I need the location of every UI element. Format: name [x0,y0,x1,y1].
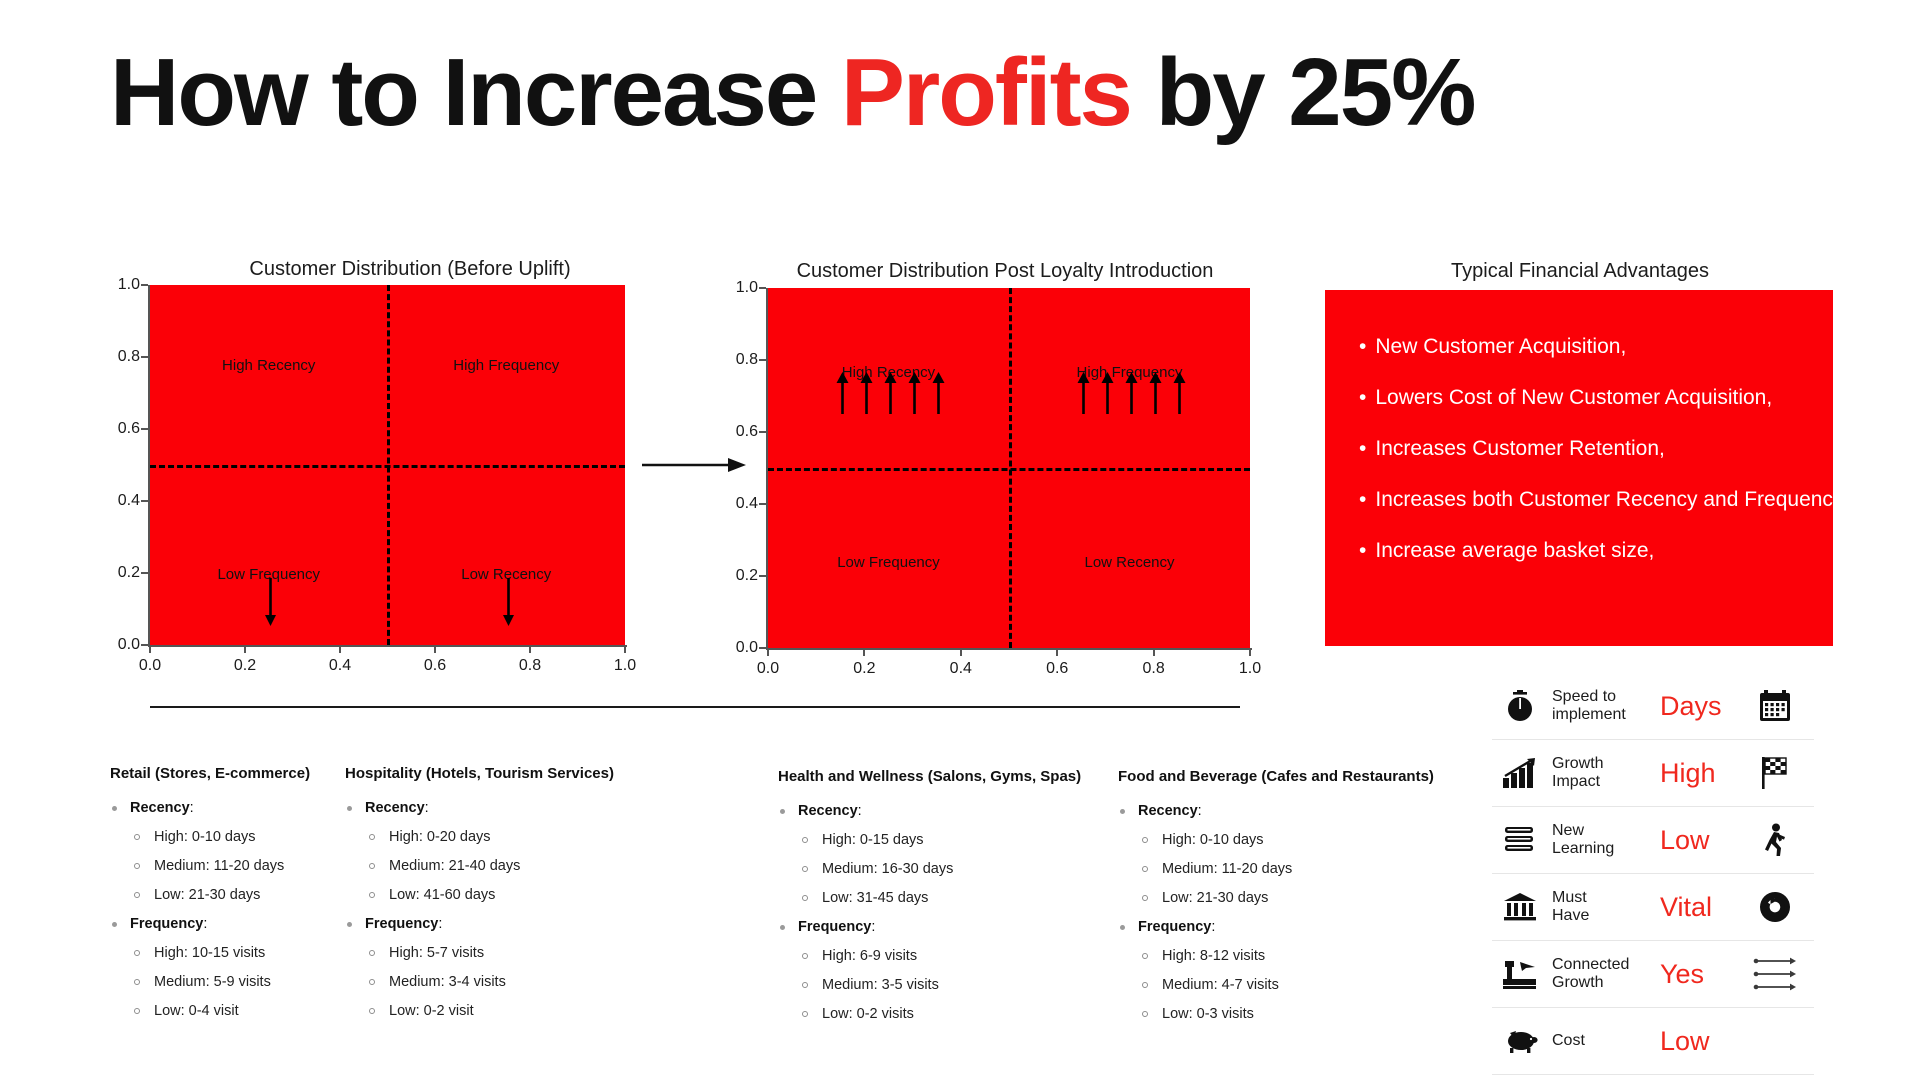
bullet-icon: • [1359,386,1366,409]
bullet-ring-icon [134,834,140,840]
colon: : [871,919,875,935]
y-tick-mark [141,500,148,502]
criteria-value: High [1652,758,1744,789]
criteria-row: CostLow [1492,1008,1814,1075]
metric-group-label: Recency: [345,800,614,816]
metric-range-item: Medium: 5-9 visits [110,974,310,990]
x-tick-label: 0.6 [412,657,458,675]
bullet-icon: • [1359,437,1366,460]
y-tick-mark [759,287,766,289]
bullet-dot-icon [112,922,117,927]
criteria-label-line-1: Speed to [1552,688,1652,706]
segment-column: Retail (Stores, E-commerce)Recency:High:… [110,765,310,1032]
metric-range-item: Medium: 16-30 days [778,861,1081,877]
calendar-icon [1744,690,1806,722]
x-tick-label: 0.0 [745,660,791,678]
y-tick-mark [141,284,148,286]
y-tick-label: 0.0 [712,639,758,657]
metric-range-item: High: 5-7 visits [345,945,614,961]
x-tick-mark [767,649,769,656]
x-tick-label: 0.2 [222,657,268,675]
metric-range-item: High: 0-10 days [1118,832,1434,848]
criteria-row: GrowthImpactHigh [1492,740,1814,807]
stopwatch-icon [1492,689,1548,723]
criteria-value: Vital [1652,892,1744,923]
metric-group-label: Recency: [110,800,310,816]
y-tick-mark [141,644,148,646]
bullet-ring-icon [802,953,808,959]
y-tick-label: 0.2 [94,564,140,582]
metric-range-item: High: 0-15 days [778,832,1081,848]
metric-range-item: Low: 21-30 days [110,887,310,903]
bullet-ring-icon [802,982,808,988]
piggy-bank-icon [1492,1027,1548,1055]
quadrant-label: High Recency [222,357,315,374]
metric-name: Frequency [130,916,203,932]
x-tick-mark [863,649,865,656]
metric-range-text: Low: 21-30 days [1162,890,1268,906]
advantage-item: •Lowers Cost of New Customer Acquisition… [1359,387,1833,408]
x-tick-label: 0.8 [507,657,553,675]
metric-range-item: Medium: 4-7 visits [1118,977,1434,993]
advantage-text: Increase average basket size, [1375,539,1654,562]
criteria-rows: Speed toimplementDaysGrowthImpactHighNew… [1492,673,1814,1075]
segment-heading: Retail (Stores, E-commerce) [110,765,310,782]
metric-range-item: Low: 0-4 visit [110,1003,310,1019]
metric-range-text: High: 8-12 visits [1162,948,1265,964]
y-tick-mark [141,428,148,430]
metric-group-label: Frequency: [345,916,614,932]
metric-group-label: Frequency: [778,919,1081,935]
metric-range-item: Medium: 11-20 days [1118,861,1434,877]
metric-range-text: Medium: 3-5 visits [822,977,939,993]
metric-group-label: Recency: [778,803,1081,819]
y-tick-label: 0.8 [94,348,140,366]
title-part-2: by 25% [1131,39,1475,146]
y-tick-mark [759,503,766,505]
metric-range-item: High: 0-20 days [345,829,614,845]
criteria-label-line-2: implement [1552,706,1652,724]
advantage-text: New Customer Acquisition, [1375,335,1626,358]
bullet-ring-icon [1142,982,1148,988]
y-tick-label: 0.8 [712,351,758,369]
bullet-dot-icon [780,809,785,814]
growth-chart-icon [1492,757,1548,789]
metric-range-item: High: 10-15 visits [110,945,310,961]
metric-range-text: Low: 21-30 days [154,887,260,903]
criteria-row: Speed toimplementDays [1492,673,1814,740]
metric-range-text: Medium: 11-20 days [1162,861,1292,877]
criteria-label-line-1: New [1552,822,1652,840]
y-tick-mark [141,572,148,574]
bullet-dot-icon [347,806,352,811]
bullet-ring-icon [369,979,375,985]
metric-range-item: Medium: 11-20 days [110,858,310,874]
criteria-value: Yes [1652,959,1744,990]
criteria-label-line-1: Connected [1552,956,1652,974]
criteria-row: MustHaveVital [1492,874,1814,941]
criteria-label-line-2: Impact [1552,773,1652,791]
metric-range-item: Low: 0-2 visit [345,1003,614,1019]
metric-range-text: Medium: 5-9 visits [154,974,271,990]
metric-range-text: High: 5-7 visits [389,945,484,961]
bullet-ring-icon [802,866,808,872]
segment-heading: Health and Wellness (Salons, Gyms, Spas) [778,768,1081,785]
metric-range-text: High: 6-9 visits [822,948,917,964]
bullet-ring-icon [802,895,808,901]
y-tick-mark [759,647,766,649]
colon: : [438,916,442,932]
bullet-ring-icon [369,1008,375,1014]
bullet-ring-icon [1142,866,1148,872]
bullet-ring-icon [1142,1011,1148,1017]
metric-range-item: High: 8-12 visits [1118,948,1434,964]
criteria-label-line-2: Growth [1552,974,1652,992]
control-tower-icon [1492,958,1548,990]
bullet-ring-icon [134,950,140,956]
bullet-dot-icon [1120,809,1125,814]
metric-range-text: High: 0-10 days [1162,832,1264,848]
quadrant-label: Low Recency [1084,554,1174,571]
bullet-ring-icon [369,892,375,898]
metric-range-text: Medium: 11-20 days [154,858,284,874]
x-tick-label: 1.0 [602,657,648,675]
chart-1-x-axis [148,645,627,647]
x-tick-label: 0.4 [317,657,363,675]
metric-range-text: Medium: 4-7 visits [1162,977,1279,993]
criteria-label-line-1: Growth [1552,755,1652,773]
metric-range-text: High: 0-20 days [389,829,491,845]
criteria-label-line-2: Learning [1552,840,1652,858]
chart-1-horizontal-divider [150,465,625,468]
x-tick-mark [434,646,436,653]
metric-range-text: Low: 0-4 visit [154,1003,239,1019]
metric-range-item: Low: 0-3 visits [1118,1006,1434,1022]
books-icon [1492,824,1548,856]
advantage-item: •Increases both Customer Recency and Fre… [1359,489,1833,510]
advantage-item: •Increases Customer Retention, [1359,438,1833,459]
chart-2-horizontal-divider [768,468,1250,471]
walking-person-icon [1744,823,1806,857]
up-arrow-icon-group [834,372,947,418]
criteria-label: GrowthImpact [1548,755,1652,791]
metric-range-text: Low: 0-3 visits [1162,1006,1254,1022]
criteria-label: Cost [1548,1032,1652,1050]
x-tick-label: 1.0 [1227,660,1273,678]
metric-range-text: High: 10-15 visits [154,945,265,961]
criteria-label-line-2: Have [1552,907,1652,925]
chart-1-title: Customer Distribution (Before Uplift) [150,258,670,281]
x-tick-label: 0.6 [1034,660,1080,678]
advantages-panel: •New Customer Acquisition,•Lowers Cost o… [1325,290,1833,646]
y-tick-mark [141,356,148,358]
metric-name: Frequency [1138,919,1211,935]
metric-range-text: High: 0-10 days [154,829,256,845]
bullet-ring-icon [134,979,140,985]
metric-range-item: Medium: 3-4 visits [345,974,614,990]
advantage-text: Increases both Customer Recency and Freq… [1375,488,1847,511]
chart-2-title: Customer Distribution Post Loyalty Intro… [740,260,1270,283]
bullet-ring-icon [369,950,375,956]
bank-icon [1492,891,1548,923]
segment-column: Health and Wellness (Salons, Gyms, Spas)… [778,768,1081,1035]
three-arrows-icon [1744,955,1806,993]
bullet-dot-icon [1120,925,1125,930]
bullet-ring-icon [1142,837,1148,843]
y-tick-label: 0.2 [712,567,758,585]
bullet-dot-icon [112,806,117,811]
advantages-list: •New Customer Acquisition,•Lowers Cost o… [1359,336,1833,561]
metric-name: Recency [798,803,858,819]
y-tick-mark [759,431,766,433]
y-tick-mark [759,575,766,577]
advantage-text: Increases Customer Retention, [1375,437,1664,460]
metric-name: Frequency [365,916,438,932]
x-tick-mark [339,646,341,653]
criteria-label: NewLearning [1548,822,1652,858]
title-part-1: How to Increase [110,39,841,146]
metric-range-text: High: 0-15 days [822,832,924,848]
down-arrow-icon-group [262,578,279,630]
metric-group-label: Frequency: [1118,919,1434,935]
bullet-ring-icon [134,1008,140,1014]
colon: : [1198,803,1202,819]
y-tick-label: 0.4 [94,492,140,510]
metric-name: Recency [365,800,425,816]
y-tick-label: 0.6 [712,423,758,441]
y-tick-label: 0.6 [94,420,140,438]
colon: : [858,803,862,819]
metric-range-text: Low: 41-60 days [389,887,495,903]
metric-range-item: Low: 0-2 visits [778,1006,1081,1022]
criteria-label: ConnectedGrowth [1548,956,1652,992]
criteria-label-line-1: Must [1552,889,1652,907]
bullet-dot-icon [780,925,785,930]
metric-range-item: Low: 21-30 days [1118,890,1434,906]
bullet-ring-icon [802,837,808,843]
x-tick-label: 0.8 [1131,660,1177,678]
down-arrow-icon-group [500,578,517,630]
metric-name: Frequency [798,919,871,935]
y-tick-label: 1.0 [94,276,140,294]
y-tick-label: 1.0 [712,279,758,297]
section-divider [150,706,1240,708]
slide-canvas: How to Increase Profits by 25% Customer … [0,0,1920,1080]
segment-heading: Hospitality (Hotels, Tourism Services) [345,765,614,782]
x-tick-label: 0.4 [938,660,984,678]
advantage-text: Lowers Cost of New Customer Acquisition, [1375,386,1772,409]
refresh-circle-icon [1744,891,1806,923]
bullet-ring-icon [1142,953,1148,959]
criteria-label: Speed toimplement [1548,688,1652,724]
bullet-icon: • [1359,335,1366,358]
advantage-item: •Increase average basket size, [1359,540,1833,561]
segment-column: Hospitality (Hotels, Tourism Services)Re… [345,765,614,1032]
x-tick-mark [1249,649,1251,656]
metric-range-item: Low: 31-45 days [778,890,1081,906]
criteria-label: MustHave [1548,889,1652,925]
segment-column: Food and Beverage (Cafes and Restaurants… [1118,768,1434,1035]
metric-range-item: High: 6-9 visits [778,948,1081,964]
x-tick-mark [624,646,626,653]
x-tick-mark [149,646,151,653]
quadrant-label: High Frequency [453,357,559,374]
colon: : [1211,919,1215,935]
y-tick-label: 0.0 [94,636,140,654]
quadrant-label: Low Frequency [837,554,940,571]
metric-range-text: Medium: 21-40 days [389,858,520,874]
criteria-row: NewLearningLow [1492,807,1814,874]
criteria-value: Low [1652,1026,1744,1057]
criteria-label-line-1: Cost [1552,1032,1652,1050]
metric-range-text: Low: 0-2 visits [822,1006,914,1022]
colon: : [425,800,429,816]
criteria-value: Low [1652,825,1744,856]
bullet-ring-icon [1142,895,1148,901]
x-tick-mark [1056,649,1058,656]
metric-name: Recency [1138,803,1198,819]
colon: : [190,800,194,816]
bullet-icon: • [1359,539,1366,562]
up-arrow-icon-group [1075,372,1188,418]
x-tick-mark [244,646,246,653]
metric-name: Recency [130,800,190,816]
bullet-dot-icon [347,922,352,927]
metric-range-item: Low: 41-60 days [345,887,614,903]
bullet-ring-icon [369,863,375,869]
colon: : [203,916,207,932]
bullet-ring-icon [802,1011,808,1017]
x-tick-mark [960,649,962,656]
y-tick-mark [759,359,766,361]
metric-range-text: Low: 0-2 visit [389,1003,474,1019]
criteria-value: Days [1652,691,1744,722]
chart-2-x-axis [766,648,1252,650]
transition-arrow-icon [640,450,750,480]
bullet-ring-icon [134,863,140,869]
metric-range-text: Medium: 3-4 visits [389,974,506,990]
segment-heading: Food and Beverage (Cafes and Restaurants… [1118,768,1434,785]
bullet-ring-icon [134,892,140,898]
metric-group-label: Frequency: [110,916,310,932]
checkered-flag-icon [1744,756,1806,790]
metric-range-text: Low: 31-45 days [822,890,928,906]
criteria-table: Speed toimplementDaysGrowthImpactHighNew… [1492,673,1814,1075]
bullet-ring-icon [369,834,375,840]
x-tick-mark [529,646,531,653]
advantage-item: •New Customer Acquisition, [1359,336,1833,357]
metric-range-item: High: 0-10 days [110,829,310,845]
page-title: How to Increase Profits by 25% [110,38,1850,148]
metric-group-label: Recency: [1118,803,1434,819]
x-tick-mark [1153,649,1155,656]
metric-range-item: Medium: 3-5 visits [778,977,1081,993]
advantages-title: Typical Financial Advantages [1325,260,1835,283]
title-accent-profits: Profits [841,39,1131,146]
metric-range-item: Medium: 21-40 days [345,858,614,874]
x-tick-label: 0.0 [127,657,173,675]
metric-range-text: Medium: 16-30 days [822,861,953,877]
criteria-row: ConnectedGrowthYes [1492,941,1814,1008]
bullet-icon: • [1359,488,1366,511]
y-tick-label: 0.4 [712,495,758,513]
x-tick-label: 0.2 [841,660,887,678]
